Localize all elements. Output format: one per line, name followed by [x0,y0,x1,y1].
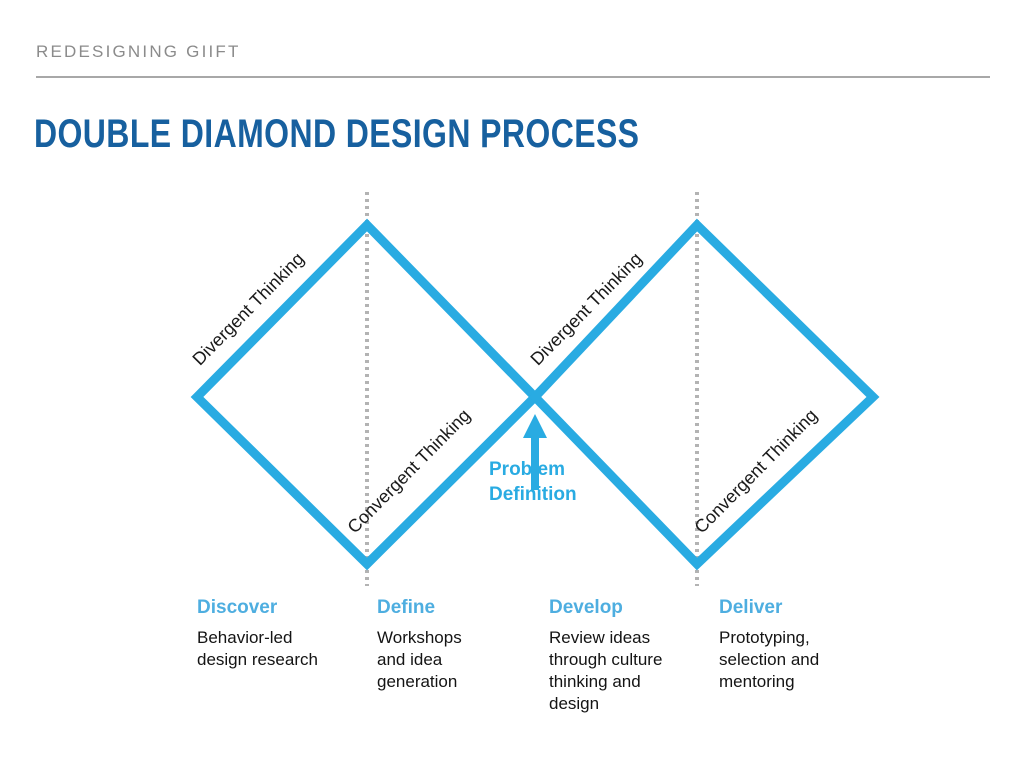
phase-column-develop: Develop Review ideas through culture thi… [549,597,709,715]
phase-title-discover: Discover [197,597,362,619]
problem-definition-line-1: Problem [489,457,679,482]
slide-canvas: REDESIGNING GIIFT DOUBLE DIAMOND DESIGN … [0,0,1024,768]
phase-column-deliver: Deliver Prototyping, selection and mento… [719,597,889,693]
phase-description-discover: Behavior-led design research [197,627,362,671]
problem-definition-line-2: Definition [489,482,679,507]
phase-title-deliver: Deliver [719,597,889,619]
phase-title-define: Define [377,597,537,619]
phase-description-deliver: Prototyping, selection and mentoring [719,627,889,693]
phase-description-define: Workshops and idea generation [377,627,537,693]
phase-description-develop: Review ideas through culture thinking an… [549,627,709,715]
phase-column-define: Define Workshops and idea generation [377,597,537,693]
problem-definition-label: Problem Definition [489,457,679,507]
phase-column-discover: Discover Behavior-led design research [197,597,362,671]
phase-title-develop: Develop [549,597,709,619]
